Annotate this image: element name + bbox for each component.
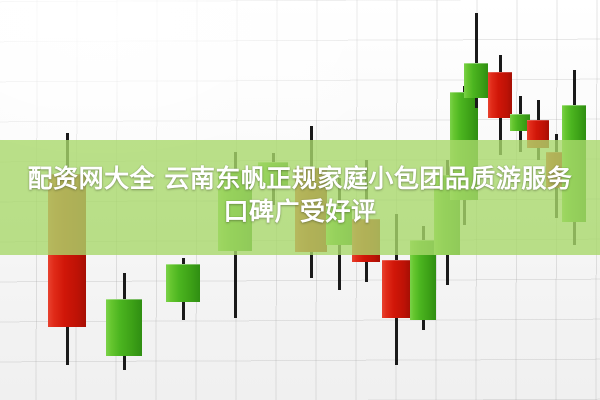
candle-13 bbox=[464, 0, 488, 400]
candle-18 bbox=[562, 0, 586, 400]
candle-body-up bbox=[464, 63, 488, 98]
candle-14 bbox=[488, 0, 512, 400]
candle-body-up bbox=[410, 240, 436, 320]
candle-body-down bbox=[382, 260, 410, 318]
candle-body-down bbox=[295, 168, 327, 252]
candle-body-up bbox=[562, 105, 586, 222]
candle-body-up bbox=[218, 170, 252, 251]
candle-10 bbox=[410, 0, 436, 400]
candlestick-chart-banner: 配资网大全 云南东帆正规家庭小包团品质游服务 口碑广受好评 bbox=[0, 0, 600, 400]
candle-9 bbox=[382, 0, 410, 400]
candle-body-down bbox=[352, 219, 380, 262]
candle-body-down bbox=[488, 72, 512, 118]
candle-4 bbox=[218, 0, 252, 400]
candle-6 bbox=[295, 0, 327, 400]
candle-7 bbox=[326, 0, 352, 400]
candle-3 bbox=[166, 0, 200, 400]
candle-body-up bbox=[106, 299, 142, 356]
candle-body-up bbox=[166, 264, 200, 302]
candle-body-up bbox=[258, 162, 288, 186]
candle-2 bbox=[106, 0, 142, 400]
candle-5 bbox=[258, 0, 288, 400]
candle-1 bbox=[48, 0, 86, 400]
candle-8 bbox=[352, 0, 380, 400]
candle-body-down bbox=[48, 174, 86, 327]
candle-body-up bbox=[326, 206, 352, 245]
candlestick-series bbox=[0, 0, 600, 400]
